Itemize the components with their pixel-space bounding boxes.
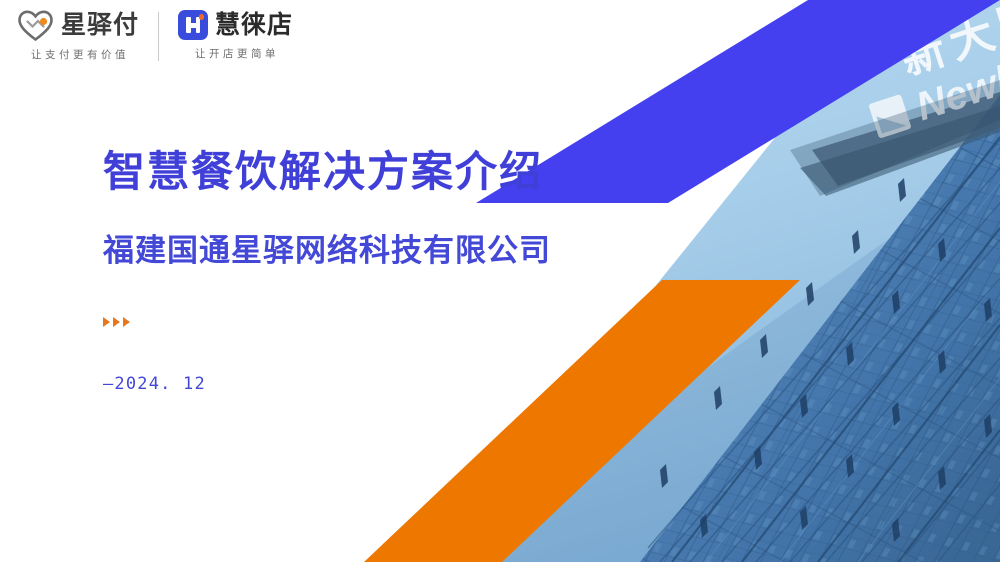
triangle-right-icon xyxy=(123,317,130,327)
logo-tagline-xingyifu: 让支付更有价值 xyxy=(28,50,129,61)
logo-wordmark-xingyifu: 星驿付 xyxy=(61,13,139,38)
logo-huilaidian[interactable]: 慧徕店 让开店更简单 xyxy=(178,10,293,60)
heart-handshake-icon xyxy=(18,10,54,41)
hui-lai-dian-h-icon xyxy=(178,10,208,40)
date-label: —2024. 12 xyxy=(103,374,551,394)
logo-wordmark-huilaidian: 慧徕店 xyxy=(215,13,293,38)
triangle-right-icon xyxy=(103,317,110,327)
title-text-block: 智慧餐饮解决方案介绍 福建国通星驿网络科技有限公司 —2024. 12 xyxy=(103,148,551,394)
logo-bar: 星驿付 让支付更有价值 慧徕店 让开店更简单 xyxy=(18,10,293,61)
company-name: 福建国通星驿网络科技有限公司 xyxy=(103,232,551,269)
logo-xingyifu[interactable]: 星驿付 让支付更有价值 xyxy=(18,10,139,61)
presentation-slide: 新大陆 Newland xyxy=(0,0,1000,562)
logo-tagline-huilaidian: 让开店更简单 xyxy=(192,49,279,60)
logo-divider xyxy=(158,12,159,61)
triangle-right-icon xyxy=(113,317,120,327)
arrow-accent-group xyxy=(103,317,551,327)
page-title: 智慧餐饮解决方案介绍 xyxy=(103,148,551,196)
